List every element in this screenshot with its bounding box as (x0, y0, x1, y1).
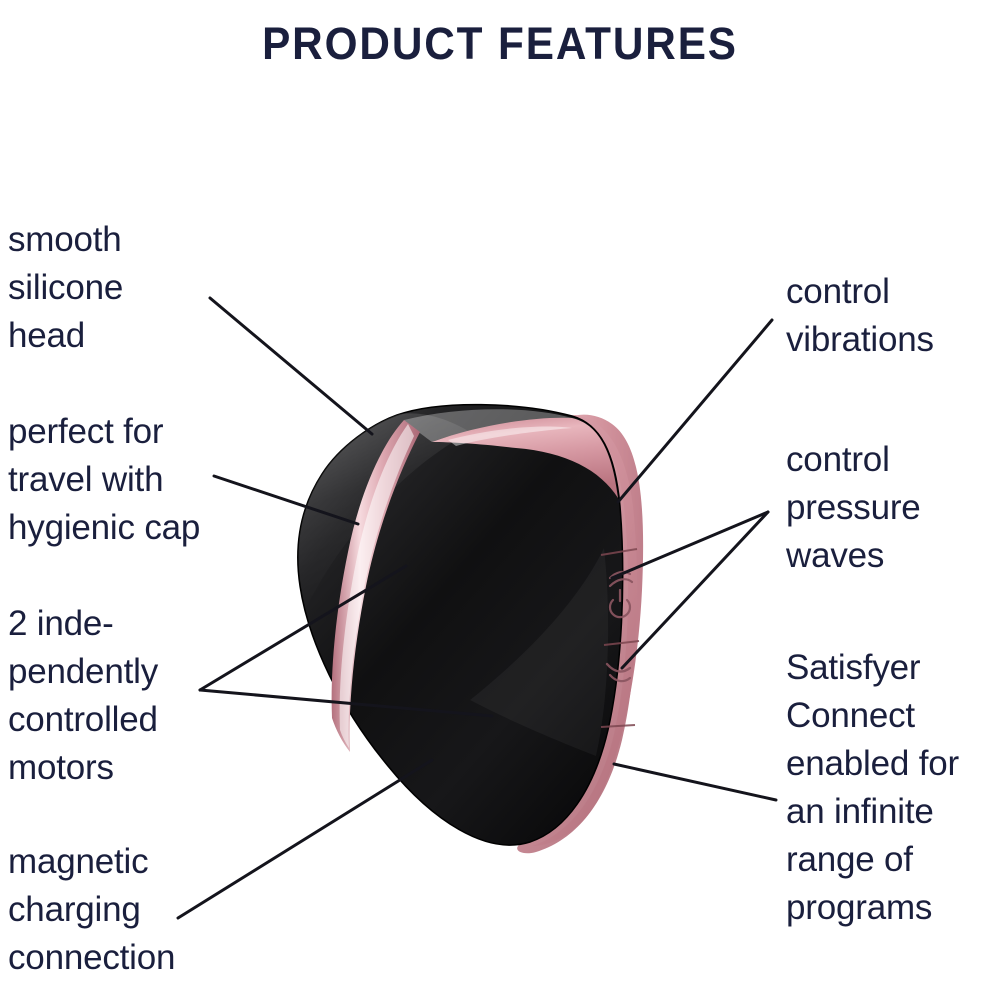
leader-smooth-silicone-head (210, 298, 372, 434)
product-features-infographic: PRODUCT FEATURES (0, 0, 1000, 1000)
callout-magnetic-charging: magnetic charging connection (8, 838, 175, 982)
callout-satisfyer-connect: Satisfyer Connect enabled for an infinit… (786, 644, 959, 932)
leader-satisfyer-connect (614, 764, 776, 800)
leader-control-vibrations (618, 320, 772, 502)
device-body (298, 405, 643, 854)
callout-two-motors: 2 inde- pendently controlled motors (8, 600, 158, 792)
leader-magnetic-charging (178, 760, 432, 918)
leader-pressure-waves-lower (622, 512, 768, 668)
callout-control-pressure-waves: control pressure waves (786, 436, 921, 580)
callout-smooth-silicone-head: smooth silicone head (8, 216, 123, 360)
callout-control-vibrations: control vibrations (786, 268, 934, 364)
callout-perfect-for-travel: perfect for travel with hygienic cap (8, 408, 200, 552)
